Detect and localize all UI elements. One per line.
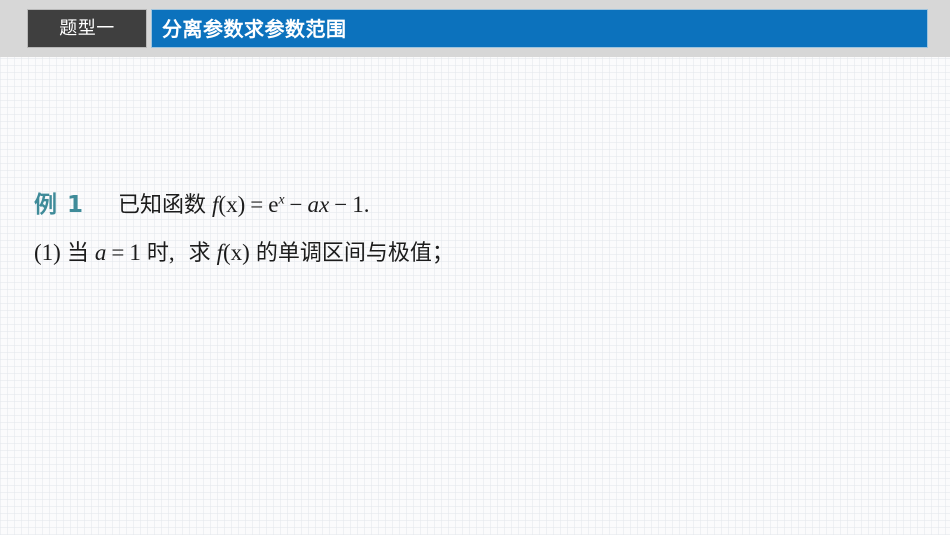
example-statement-line: 例 1 已知函数f(x)=ex−ax−1. xyxy=(34,193,369,217)
sub-question-1-function-arg: (x) xyxy=(223,241,250,264)
example-term-e: e xyxy=(268,192,278,217)
header-banner-title: 分离参数求参数范围 xyxy=(152,19,347,39)
slide-canvas: 题型一 分离参数求参数范围 例 1 已知函数f(x)=ex−ax−1. (1)当… xyxy=(0,0,950,535)
sub-question-1-tail: 的单调区间与极值 xyxy=(256,243,432,265)
sub-question-1-comma: , xyxy=(169,241,175,264)
example-minus-sign-2: − xyxy=(329,192,352,217)
sub-question-1-line: (1)当a=1时,求f(x)的单调区间与极值； xyxy=(34,241,454,265)
example-function-arg: (x) xyxy=(218,192,245,217)
example-term-e-exponent: x xyxy=(278,192,284,207)
sub-question-1-number: (1) xyxy=(34,241,61,264)
example-stem-text: 已知函数 xyxy=(118,193,206,218)
example-minus-sign-1: − xyxy=(285,192,308,217)
sub-question-1-equals-sign: = xyxy=(106,241,129,264)
header-strip: 题型一 分离参数求参数范围 xyxy=(0,0,950,57)
sub-question-1-lead: 当 xyxy=(67,243,89,265)
example-period: . xyxy=(364,192,370,217)
header-title-banner: 分离参数求参数范围 xyxy=(151,9,928,48)
slide-body: 例 1 已知函数f(x)=ex−ax−1. (1)当a=1时,求f(x)的单调区… xyxy=(0,57,950,535)
header-tag-badge: 题型一 xyxy=(27,9,147,48)
sub-question-1-terminator: ； xyxy=(432,243,454,265)
example-term-a: a xyxy=(308,192,320,217)
example-term-x: x xyxy=(319,192,329,217)
sub-question-1-when: 时 xyxy=(147,243,169,265)
example-equals-sign: = xyxy=(245,192,268,217)
example-label: 例 1 xyxy=(34,194,84,217)
sub-question-1-ask: 求 xyxy=(189,243,211,265)
header-tag-label: 题型一 xyxy=(59,20,115,38)
sub-question-1-value: 1 xyxy=(129,241,141,264)
example-statement: 已知函数f(x)=ex−ax−1. xyxy=(118,193,369,217)
sub-question-1-variable: a xyxy=(95,241,107,264)
example-constant-one: 1 xyxy=(352,192,364,217)
